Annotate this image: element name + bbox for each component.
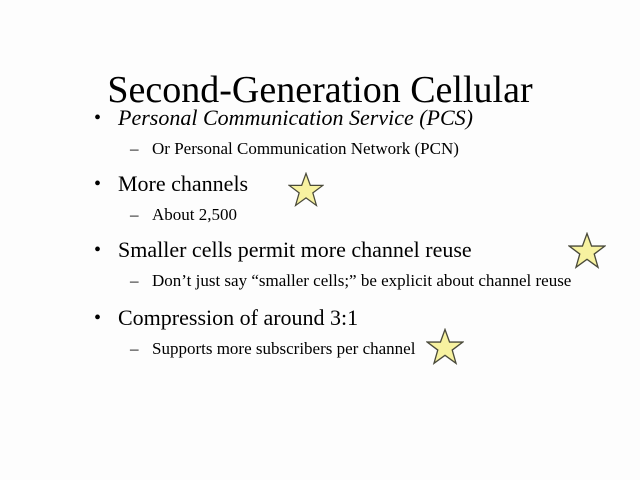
bullet-level2: – About 2,500 [0, 204, 640, 226]
bullet-marker-icon: • [94, 170, 101, 198]
bullet-level1-label: Smaller cells permit more channel reuse [118, 237, 472, 262]
dash-marker-icon: – [130, 204, 139, 226]
bullet-level1-label: Compression of around 3:1 [118, 305, 358, 330]
bullet-level1-label: More channels [118, 171, 248, 196]
bullet-level2: – Don’t just say “smaller cells;” be exp… [0, 270, 640, 292]
bullet-level2-label: Don’t just say “smaller cells;” be expli… [152, 271, 571, 290]
bullet-level2-label: Supports more subscribers per channel [152, 339, 415, 358]
dash-marker-icon: – [130, 138, 139, 160]
bullet-level2: – Supports more subscribers per channel [0, 338, 640, 360]
bullet-level1: • Personal Communication Service (PCS) [0, 104, 640, 132]
slide-body-list: • Personal Communication Service (PCS) –… [0, 104, 640, 366]
bullet-level1: • Smaller cells permit more channel reus… [0, 236, 640, 264]
bullet-level2-label: Or Personal Communication Network (PCN) [152, 139, 459, 158]
slide-canvas: Second-Generation Cellular • Personal Co… [0, 0, 640, 480]
bullet-marker-icon: • [94, 304, 101, 332]
bullet-level2: – Or Personal Communication Network (PCN… [0, 138, 640, 160]
bullet-marker-icon: • [94, 104, 101, 132]
bullet-level1: • Compression of around 3:1 [0, 304, 640, 332]
bullet-level1-label: Personal Communication Service (PCS) [118, 105, 473, 130]
bullet-level2-label: About 2,500 [152, 205, 237, 224]
bullet-level1: • More channels [0, 170, 640, 198]
bullet-marker-icon: • [94, 236, 101, 264]
dash-marker-icon: – [130, 270, 139, 292]
dash-marker-icon: – [130, 338, 139, 360]
